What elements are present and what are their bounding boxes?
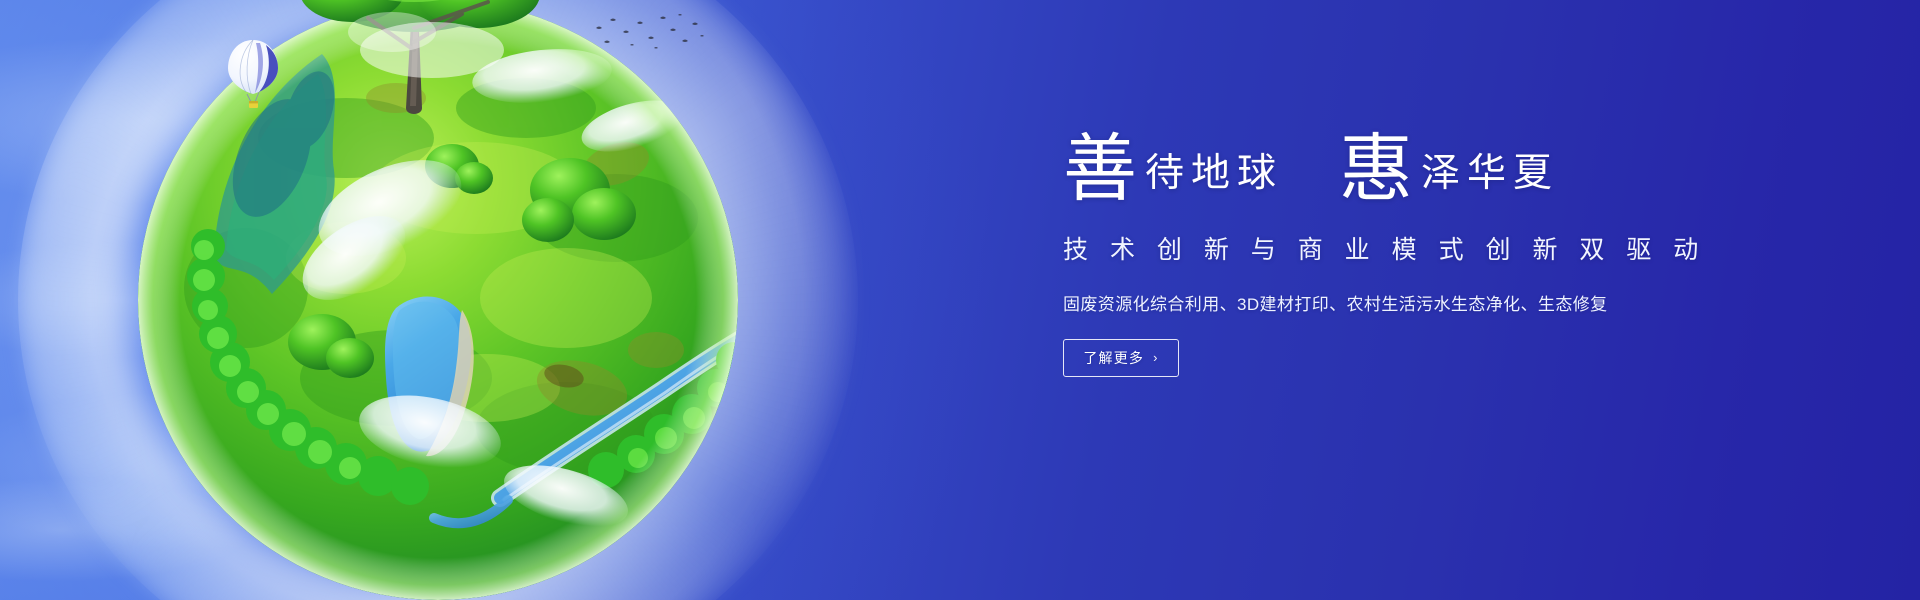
headline-accent-1: 善 (1063, 132, 1137, 206)
page-subtitle: 技 术 创 新 与 商 业 模 式 创 新 双 驱 动 (1063, 230, 1703, 266)
hot-air-balloon-icon (224, 38, 282, 112)
chevron-right-icon: › (1153, 351, 1159, 364)
headline-rest-2: 泽华夏 (1421, 154, 1559, 193)
birds-flock-icon (590, 10, 708, 52)
headline-group-1: 善 待地球 (1063, 128, 1283, 202)
page-title: 善 待地球 惠 泽华夏 (1063, 128, 1703, 202)
learn-more-label: 了解更多 (1083, 348, 1144, 368)
headline-group-2: 惠 泽华夏 (1339, 128, 1559, 202)
learn-more-button[interactable]: 了解更多 › (1063, 339, 1179, 377)
page-description: 固废资源化综合利用、3D建材打印、农村生活污水生态净化、生态修复 (1063, 290, 1703, 315)
green-planet-earth-image (96, 0, 780, 600)
headline-rest-1: 待地球 (1145, 154, 1283, 193)
hero-copy: 善 待地球 惠 泽华夏 技 术 创 新 与 商 业 模 式 创 新 双 驱 动 … (1063, 128, 1703, 377)
hero-banner: 善 待地球 惠 泽华夏 技 术 创 新 与 商 业 模 式 创 新 双 驱 动 … (0, 0, 1920, 600)
headline-accent-2: 惠 (1339, 132, 1413, 206)
planet-illustration (96, 0, 780, 600)
cta-container: 了解更多 › (1063, 339, 1703, 377)
